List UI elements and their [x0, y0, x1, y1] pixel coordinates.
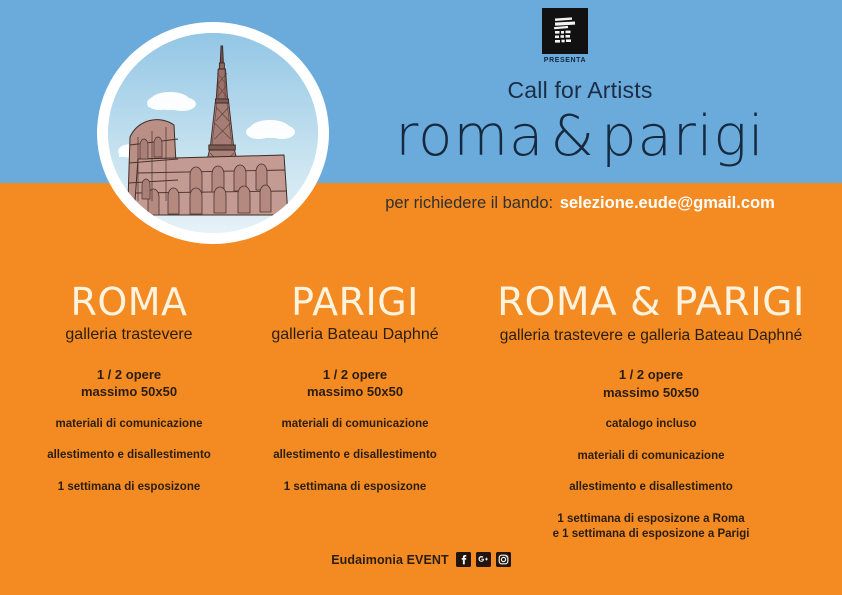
offer-gallery-roma-e-parigi: galleria trastevere e galleria Bateau Da…: [472, 327, 830, 344]
contact-email-link[interactable]: selezione.eude@gmail.com: [560, 194, 775, 212]
spec-item: 1 / 2 opere massimo 50x50: [472, 366, 830, 401]
landmarks-illustration: [108, 33, 318, 233]
offer-gallery-parigi: galleria Bateau Daphné: [244, 326, 466, 344]
illustration-circle: [97, 22, 329, 244]
instagram-icon[interactable]: [496, 552, 511, 567]
spec-line: massimo 50x50: [18, 383, 240, 401]
spec-item: 1 / 2 opere massimo 50x50: [18, 366, 240, 401]
call-for-artists-kicker: Call for Artists: [370, 78, 790, 103]
spec-line: 1 / 2 opere: [244, 366, 466, 384]
offer-title-parigi: PARIGI: [244, 283, 466, 321]
contact-line: per richiedere il bando: selezione.eude@…: [370, 194, 790, 213]
spec-item: 1 / 2 opere massimo 50x50: [244, 366, 466, 401]
facebook-icon[interactable]: [456, 552, 471, 567]
offer-title-roma-e-parigi: ROMA & PARIGI: [472, 283, 830, 322]
offer-title-roma: ROMA: [18, 283, 240, 321]
offer-column-roma: ROMA galleria trastevere 1 / 2 opere mas…: [18, 283, 240, 511]
spec-line: massimo 50x50: [244, 383, 466, 401]
spec-item: catalogo incluso: [472, 417, 830, 433]
offer-columns: ROMA galleria trastevere 1 / 2 opere mas…: [0, 283, 842, 533]
offer-specs-roma-e-parigi: 1 / 2 opere massimo 50x50 catalogo inclu…: [472, 366, 830, 543]
offer-column-roma-e-parigi: ROMA & PARIGI galleria trastevere e gall…: [472, 283, 830, 559]
social-links: [456, 552, 511, 567]
spec-item: materiali di comunicazione: [18, 417, 240, 433]
eudaimonia-logo-icon: [542, 8, 588, 54]
circle-scene: [108, 33, 318, 233]
presenta-label: PRESENTA: [541, 57, 589, 64]
spec-line: e 1 settimana di esposizone a Parigi: [472, 527, 830, 543]
title-ampersand: &: [544, 104, 601, 169]
spec-item: materiali di comunicazione: [244, 417, 466, 433]
poster-root: PRESENTA Call for Artists roma&parigi pe…: [0, 0, 842, 595]
footer-brand-label: Eudaimonia EVENT: [331, 553, 449, 567]
spec-item: materiali di comunicazione: [472, 449, 830, 465]
spec-line: 1 / 2 opere: [472, 366, 830, 384]
offer-specs-roma: 1 / 2 opere massimo 50x50 materiali di c…: [18, 366, 240, 496]
spec-line: 1 / 2 opere: [18, 366, 240, 384]
spec-item: 1 settimana di esposizone a Roma e 1 set…: [472, 512, 830, 543]
spec-line: 1 settimana di esposizone a Roma: [472, 512, 830, 528]
offer-specs-parigi: 1 / 2 opere massimo 50x50 materiali di c…: [244, 366, 466, 496]
presenter-logo-block: PRESENTA: [541, 8, 589, 64]
contact-label: per richiedere il bando:: [385, 194, 553, 212]
title-parigi: parigi: [601, 104, 765, 169]
title-roma: roma: [395, 104, 544, 169]
spec-line: massimo 50x50: [472, 384, 830, 402]
google-plus-icon[interactable]: [476, 552, 491, 567]
footer: Eudaimonia EVENT: [0, 552, 842, 567]
spec-item: allestimento e disallestimento: [18, 448, 240, 464]
offer-gallery-roma: galleria trastevere: [18, 326, 240, 344]
spec-item: allestimento e disallestimento: [472, 480, 830, 496]
spec-item: allestimento e disallestimento: [244, 448, 466, 464]
spec-item: 1 settimana di esposizone: [18, 480, 240, 496]
spec-item: 1 settimana di esposizone: [244, 480, 466, 496]
headline-block: Call for Artists roma&parigi: [370, 78, 790, 170]
offer-column-parigi: PARIGI galleria Bateau Daphné 1 / 2 oper…: [244, 283, 466, 511]
page-title: roma&parigi: [370, 105, 790, 169]
